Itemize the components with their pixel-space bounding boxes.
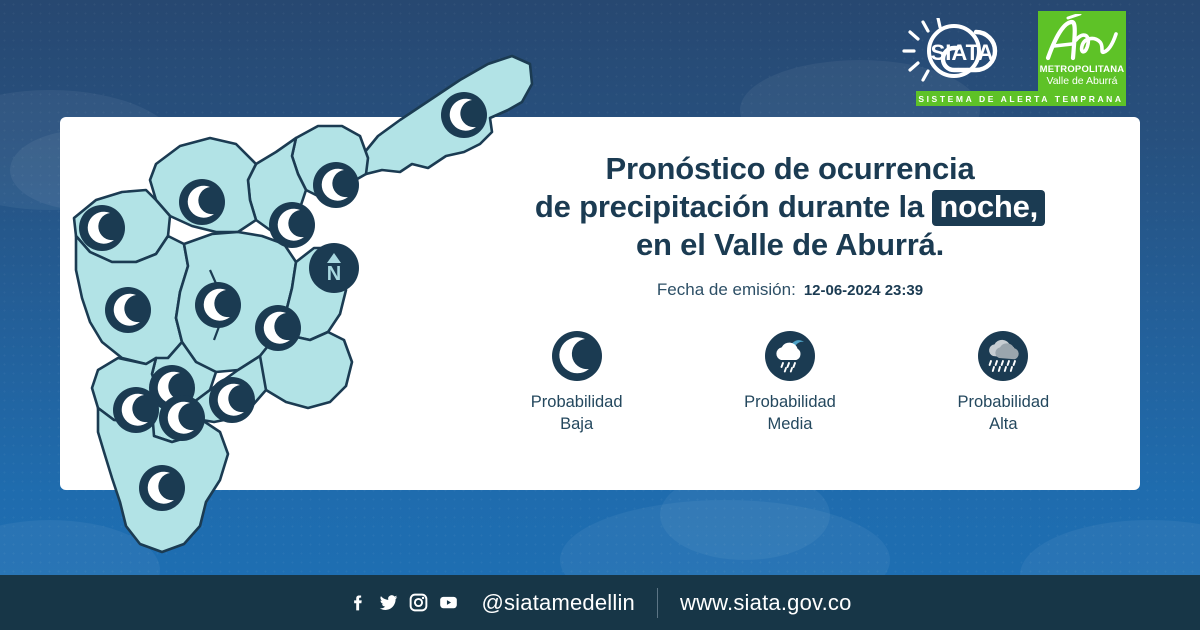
area-logo-line2: Valle de Aburrá: [1046, 75, 1117, 87]
legend-alta-line2: Alta: [957, 413, 1049, 435]
legend-media-line1: Probabilidad: [744, 391, 836, 413]
emission-value: 12-06-2024 23:39: [804, 282, 923, 299]
twitter-icon[interactable]: [378, 592, 399, 613]
page-title: Pronóstico de ocurrencia de precipitació…: [470, 150, 1110, 264]
moon-icon: [551, 330, 603, 382]
headline-line-2-text: de precipitación durante la: [535, 189, 924, 224]
siata-tagline: SISTEMA DE ALERTA TEMPRANA: [916, 91, 1126, 106]
headline-line-1: Pronóstico de ocurrencia: [470, 150, 1110, 188]
legend-alta-line1: Probabilidad: [957, 391, 1049, 413]
logo-group: SIATA METROPOLITANA Valle de Aburrá SIST…: [898, 14, 1126, 110]
website-url[interactable]: www.siata.gov.co: [680, 590, 852, 616]
area-script-icon: [1042, 14, 1122, 66]
social-links: [348, 592, 459, 613]
instagram-icon[interactable]: [408, 592, 429, 613]
legend-label-baja: Probabilidad Baja: [531, 391, 623, 435]
text-column: Pronóstico de ocurrencia de precipitació…: [470, 150, 1110, 300]
legend-item-baja: Probabilidad Baja: [492, 330, 662, 435]
legend-baja-line2: Baja: [531, 413, 623, 435]
legend-item-media: Probabilidad Media: [705, 330, 875, 435]
footer-divider: [657, 588, 658, 618]
legend-label-media: Probabilidad Media: [744, 391, 836, 435]
legend-item-alta: Probabilidad Alta: [918, 330, 1088, 435]
area-logo-line1: METROPOLITANA: [1040, 65, 1125, 75]
emission-date: Fecha de emisión: 12-06-2024 23:39: [470, 280, 1110, 300]
facebook-icon[interactable]: [348, 592, 369, 613]
footer-bar: @siatamedellin www.siata.gov.co: [0, 575, 1200, 630]
cloud-moon-rain-icon: [764, 330, 816, 382]
legend-baja-line1: Probabilidad: [531, 391, 623, 413]
probability-legend: Probabilidad Baja Probabilidad Media: [470, 330, 1110, 435]
cloud-heavy-rain-icon: [977, 330, 1029, 382]
youtube-icon[interactable]: [438, 592, 459, 613]
siata-logo: SIATA: [902, 18, 1030, 84]
legend-label-alta: Probabilidad Alta: [957, 391, 1049, 435]
headline-line-3: en el Valle de Aburrá.: [470, 226, 1110, 264]
social-handle[interactable]: @siatamedellin: [481, 590, 635, 616]
emission-label: Fecha de emisión:: [657, 280, 796, 300]
headline-line-2: de precipitación durante la noche,: [470, 188, 1110, 226]
area-metropolitana-logo: METROPOLITANA Valle de Aburrá: [1038, 11, 1126, 91]
legend-media-line2: Media: [744, 413, 836, 435]
headline-highlight: noche,: [932, 190, 1045, 226]
siata-wordmark: SIATA: [931, 40, 994, 65]
logo-row: SIATA METROPOLITANA Valle de Aburrá: [902, 14, 1126, 88]
